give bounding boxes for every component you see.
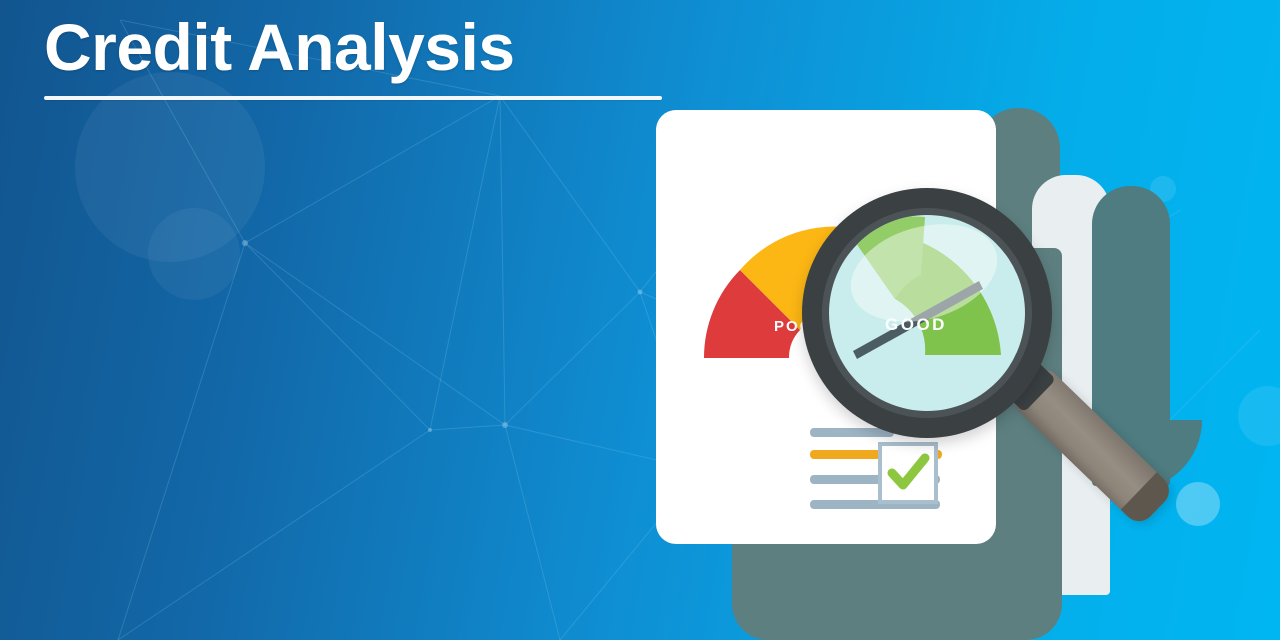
banner-canvas: Credit Analysis POOR xyxy=(0,0,1280,640)
magnifier-ring: GOOD xyxy=(802,188,1052,438)
magnifier-lens: GOOD xyxy=(829,215,1025,411)
page-title: Credit Analysis xyxy=(44,8,684,86)
decor-bubble-medium xyxy=(148,208,240,300)
title-block: Credit Analysis xyxy=(44,8,684,100)
magnifying-glass-icon: GOOD xyxy=(802,188,1052,438)
checkmark-icon xyxy=(882,446,934,500)
approval-checkbox[interactable] xyxy=(878,442,938,504)
title-underline-rule xyxy=(44,96,662,100)
report-card-front: POOR xyxy=(656,110,996,544)
credit-report-illustration: POOR xyxy=(640,90,1220,640)
